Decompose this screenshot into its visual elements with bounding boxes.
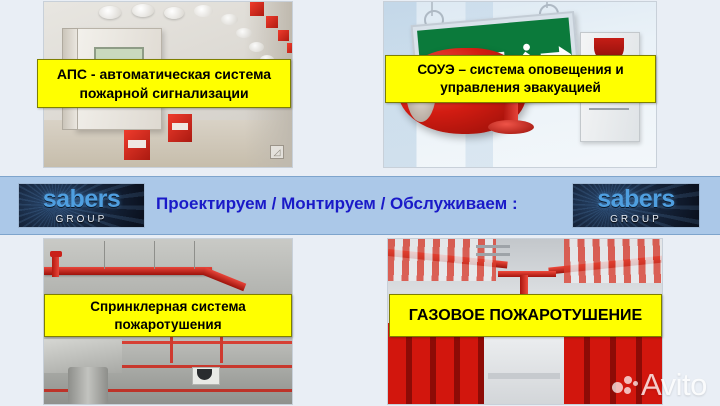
sprinkler-head	[50, 251, 62, 257]
caption-sprinkler: Спринклерная система пожаротушения	[44, 294, 292, 337]
caption-sprinkler-line1: Спринклерная система	[90, 298, 246, 316]
sabers-logo-right-word: sabers	[597, 187, 675, 212]
manual-call-point	[266, 16, 278, 28]
smoke-detector	[99, 6, 121, 19]
manual-call-point	[287, 43, 292, 53]
smoke-detector	[221, 14, 238, 25]
manual-call-point	[250, 2, 264, 16]
caption-soue: СОУЭ – система оповещения и управления э…	[385, 55, 656, 103]
sabers-logo-left-sub: GROUP	[56, 215, 108, 225]
floor-strip	[488, 373, 560, 379]
sabers-logo-right-sub: GROUP	[610, 215, 662, 225]
manual-call-point	[278, 30, 289, 41]
horn-base	[488, 120, 534, 134]
hanger-rod	[194, 241, 195, 269]
sabers-logo-left-word: sabers	[43, 187, 121, 212]
horn-stem	[504, 100, 518, 122]
ladder-rail	[476, 245, 510, 248]
banner-inner: sabers GROUP Проектируем / Монтируем / О…	[0, 177, 720, 234]
cylinder-valves-right	[564, 239, 662, 283]
slide-root: ◿ АПС - автоматическая система пожарной …	[0, 0, 720, 406]
floor-aisle	[476, 335, 572, 404]
smoke-detector	[164, 7, 184, 19]
caption-soue-line2: управления эвакуацией	[440, 79, 601, 97]
column	[68, 367, 108, 404]
call-point-label	[128, 140, 146, 148]
caption-gas: ГАЗОВОЕ ПОЖАРОТУШЕНИЕ	[389, 294, 662, 337]
sabers-logo-right[interactable]: sabers GROUP	[572, 183, 700, 228]
smoke-detector	[236, 28, 252, 38]
smoke-detector	[194, 5, 213, 17]
smoke-detector	[249, 42, 264, 52]
caption-aps: АПС - автоматическая система пожарной си…	[37, 59, 291, 108]
caption-gas-line1: ГАЗОВОЕ ПОЖАРОТУШЕНИЕ	[409, 305, 642, 326]
call-point-label	[172, 123, 188, 130]
photo-corner-mark: ◿	[270, 145, 284, 159]
vent-slit	[589, 108, 629, 110]
avito-wordmark: Avito	[641, 367, 707, 403]
caption-soue-line1: СОУЭ – система оповещения и	[417, 61, 623, 79]
hanger-rod	[154, 241, 155, 269]
caption-aps-line2: пожарной сигнализации	[79, 84, 248, 102]
avito-dots-icon	[612, 374, 638, 396]
sabers-logo-left[interactable]: sabers GROUP	[18, 183, 145, 228]
sprinkler-main-pipe	[44, 267, 212, 275]
services-banner: sabers GROUP Проектируем / Монтируем / О…	[0, 176, 720, 235]
hanger-rod	[104, 241, 105, 269]
caption-aps-line1: АПС - автоматическая система	[57, 65, 271, 83]
caption-sprinkler-line2: пожаротушения	[114, 316, 221, 334]
ladder-rail	[476, 253, 510, 256]
banner-headline: Проектируем / Монтируем / Обслуживаем :	[156, 194, 518, 214]
avito-watermark: Avito	[612, 367, 707, 403]
smoke-detector	[132, 4, 154, 17]
